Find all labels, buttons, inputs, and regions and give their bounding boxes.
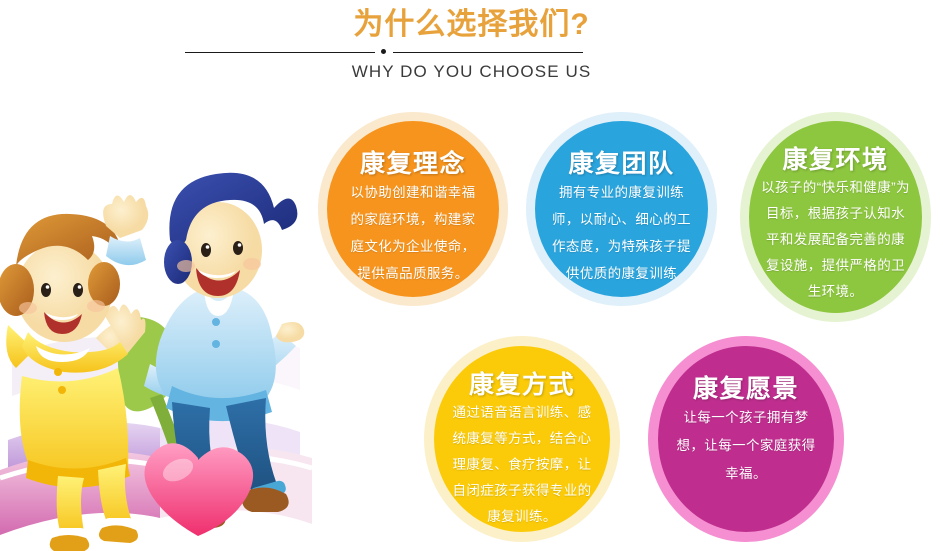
bubble-title: 康复团队 bbox=[551, 151, 692, 179]
bubble-rehab-method[interactable]: 康复方式 通过语音语言训练、感统康复等方式，结合心理康复、食疗按摩，让自闭症孩子… bbox=[424, 336, 620, 542]
divider-dot-icon bbox=[381, 49, 386, 54]
title-divider bbox=[185, 51, 583, 53]
bubble-body: 以协助创建和谐幸福的家庭环境，构建家庭文化为企业使命，提供高品质服务。 bbox=[345, 179, 481, 287]
page-subtitle: WHY DO YOU CHOOSE US bbox=[0, 62, 943, 82]
bubble-body: 让每一个孩子拥有梦想，让每一个家庭获得幸福。 bbox=[672, 404, 820, 488]
bubble-body: 通过语音语言训练、感统康复等方式，结合心理康复、食疗按摩，让自闭症孩子获得专业的… bbox=[448, 400, 596, 530]
bubble-rehab-team[interactable]: 康复团队 拥有专业的康复训练师，以耐心、细心的工作态度，为特殊孩子提供优质的康复… bbox=[526, 112, 717, 306]
bubble-rehab-environment[interactable]: 康复环境 以孩子的“快乐和健康”为目标，根据孩子认知水平和发展配备完善的康复设施… bbox=[740, 112, 931, 322]
bubble-title: 康复方式 bbox=[448, 372, 596, 400]
children-illustration-svg bbox=[0, 140, 330, 551]
divider-rule-right bbox=[393, 52, 583, 53]
bubble-body: 以孩子的“快乐和健康”为目标，根据孩子认知水平和发展配备完善的康复设施，提供严格… bbox=[761, 175, 910, 305]
bubble-title: 康复理念 bbox=[345, 151, 481, 179]
bubble-rehab-concept[interactable]: 康复理念 以协助创建和谐幸福的家庭环境，构建家庭文化为企业使命，提供高品质服务。 bbox=[318, 112, 508, 306]
bubble-title: 康复愿景 bbox=[672, 376, 820, 404]
bubble-body: 拥有专业的康复训练师，以耐心、细心的工作态度，为特殊孩子提供优质的康复训练 bbox=[551, 179, 692, 287]
section-header: 为什么选择我们? WHY DO YOU CHOOSE US bbox=[0, 0, 943, 100]
page-title: 为什么选择我们? bbox=[0, 6, 943, 44]
bubble-rehab-vision[interactable]: 康复愿景 让每一个孩子拥有梦想，让每一个家庭获得幸福。 bbox=[648, 336, 844, 542]
bubble-title: 康复环境 bbox=[761, 147, 910, 175]
children-illustration bbox=[0, 140, 330, 551]
divider-rule-left bbox=[185, 52, 375, 53]
